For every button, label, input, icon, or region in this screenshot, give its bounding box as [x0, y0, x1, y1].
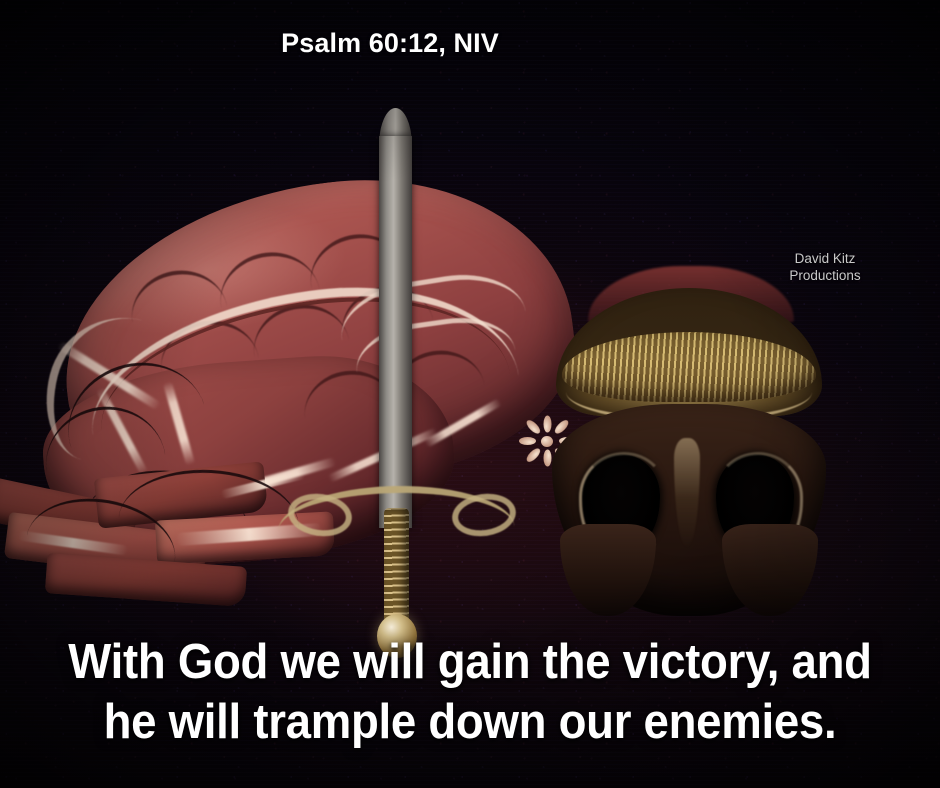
scripture-reference: Psalm 60:12, NIV: [0, 28, 940, 59]
rosette-petal: [519, 437, 536, 445]
sword-blade: [379, 136, 412, 528]
watermark-line-1: David Kitz: [770, 250, 880, 267]
roman-helmet: [548, 288, 830, 618]
scripture-image-card: Psalm 60:12, NIV David Kitz Productions …: [0, 0, 940, 788]
rosette-petal: [525, 418, 543, 436]
sword: [366, 108, 426, 648]
caption-line-1: With God we will gain the victory, and: [33, 632, 907, 692]
scripture-caption: With God we will gain the victory, and h…: [33, 632, 907, 752]
rosette-petal: [525, 446, 543, 464]
caption-line-2: he will trample down our enemies.: [33, 692, 907, 752]
watermark: David Kitz Productions: [770, 250, 880, 284]
watermark-line-2: Productions: [770, 267, 880, 284]
sword-grip: [384, 508, 409, 630]
